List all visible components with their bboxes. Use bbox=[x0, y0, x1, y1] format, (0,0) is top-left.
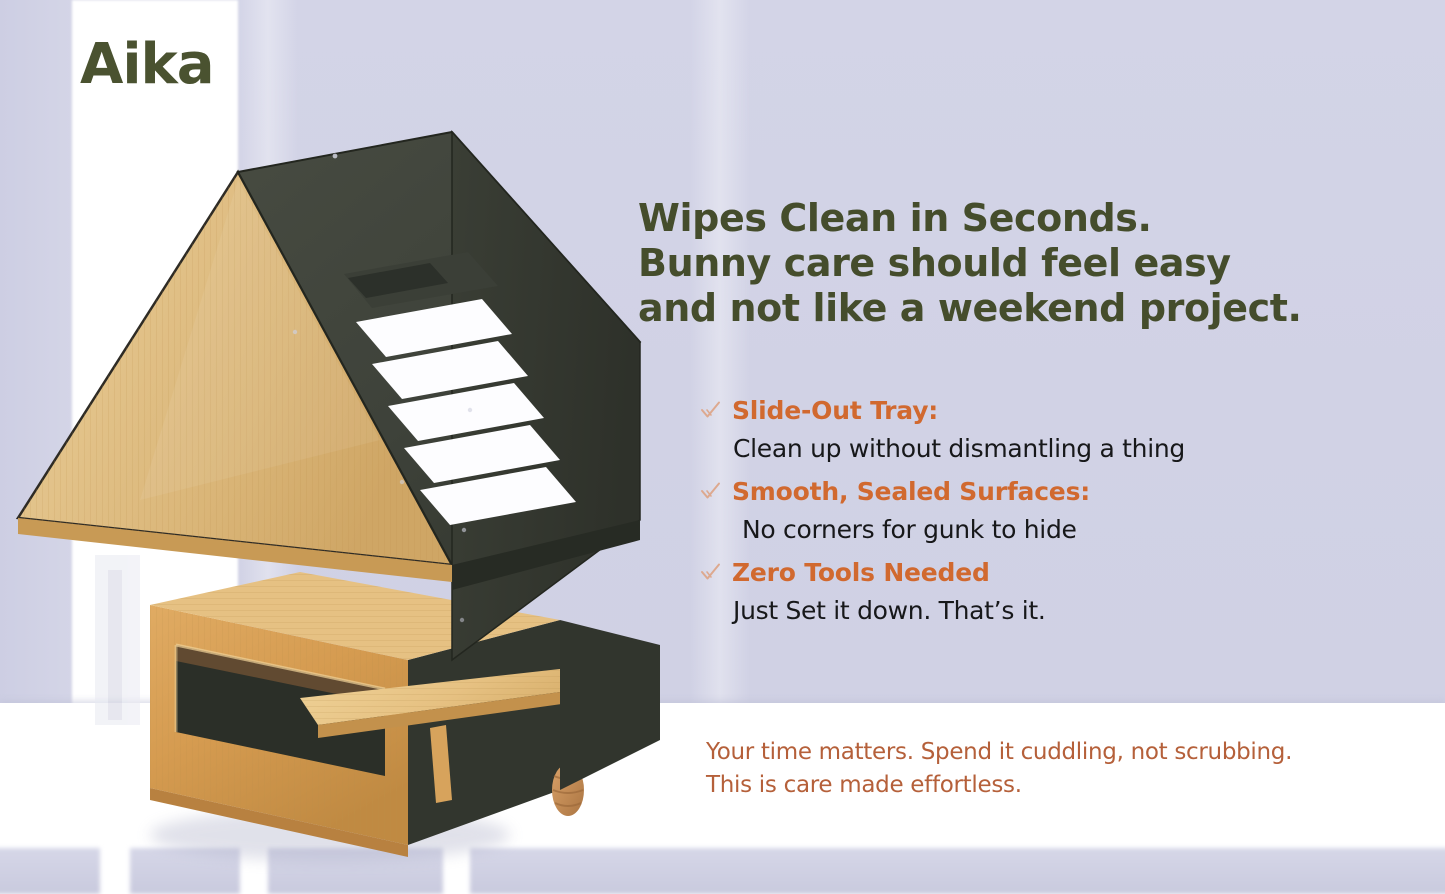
feature-title: Slide-Out Tray: bbox=[732, 392, 938, 430]
brand-logo: Aika bbox=[80, 32, 214, 97]
feature-item: Smooth, Sealed Surfaces: No corners for … bbox=[700, 473, 1400, 548]
double-check-icon bbox=[700, 400, 722, 422]
feature-title: Zero Tools Needed bbox=[732, 554, 990, 592]
headline-line-2: Bunny care should feel easy bbox=[638, 241, 1358, 286]
feature-list: Slide-Out Tray: Clean up without dismant… bbox=[700, 392, 1400, 635]
marketing-banner: Aika bbox=[0, 0, 1445, 894]
feature-item: Zero Tools Needed Just Set it down. That… bbox=[700, 554, 1400, 629]
feature-heading-row: Slide-Out Tray: bbox=[700, 392, 1400, 430]
feature-subtitle: Just Set it down. That’s it. bbox=[733, 593, 1400, 629]
double-check-icon bbox=[700, 562, 722, 584]
feature-title: Smooth, Sealed Surfaces: bbox=[732, 473, 1090, 511]
feature-subtitle: Clean up without dismantling a thing bbox=[733, 431, 1400, 467]
double-check-icon bbox=[700, 481, 722, 503]
feature-subtitle: No corners for gunk to hide bbox=[742, 512, 1400, 548]
feature-heading-row: Zero Tools Needed bbox=[700, 554, 1400, 592]
footer-line-1: Your time matters. Spend it cuddling, no… bbox=[706, 736, 1406, 769]
headline: Wipes Clean in Seconds. Bunny care shoul… bbox=[638, 196, 1358, 331]
footer-note: Your time matters. Spend it cuddling, no… bbox=[706, 736, 1406, 802]
feature-item: Slide-Out Tray: Clean up without dismant… bbox=[700, 392, 1400, 467]
feature-heading-row: Smooth, Sealed Surfaces: bbox=[700, 473, 1400, 511]
product-image bbox=[0, 100, 700, 880]
headline-line-1: Wipes Clean in Seconds. bbox=[638, 196, 1358, 241]
headline-line-3: and not like a weekend project. bbox=[638, 286, 1358, 331]
footer-line-2: This is care made effortless. bbox=[706, 769, 1406, 802]
